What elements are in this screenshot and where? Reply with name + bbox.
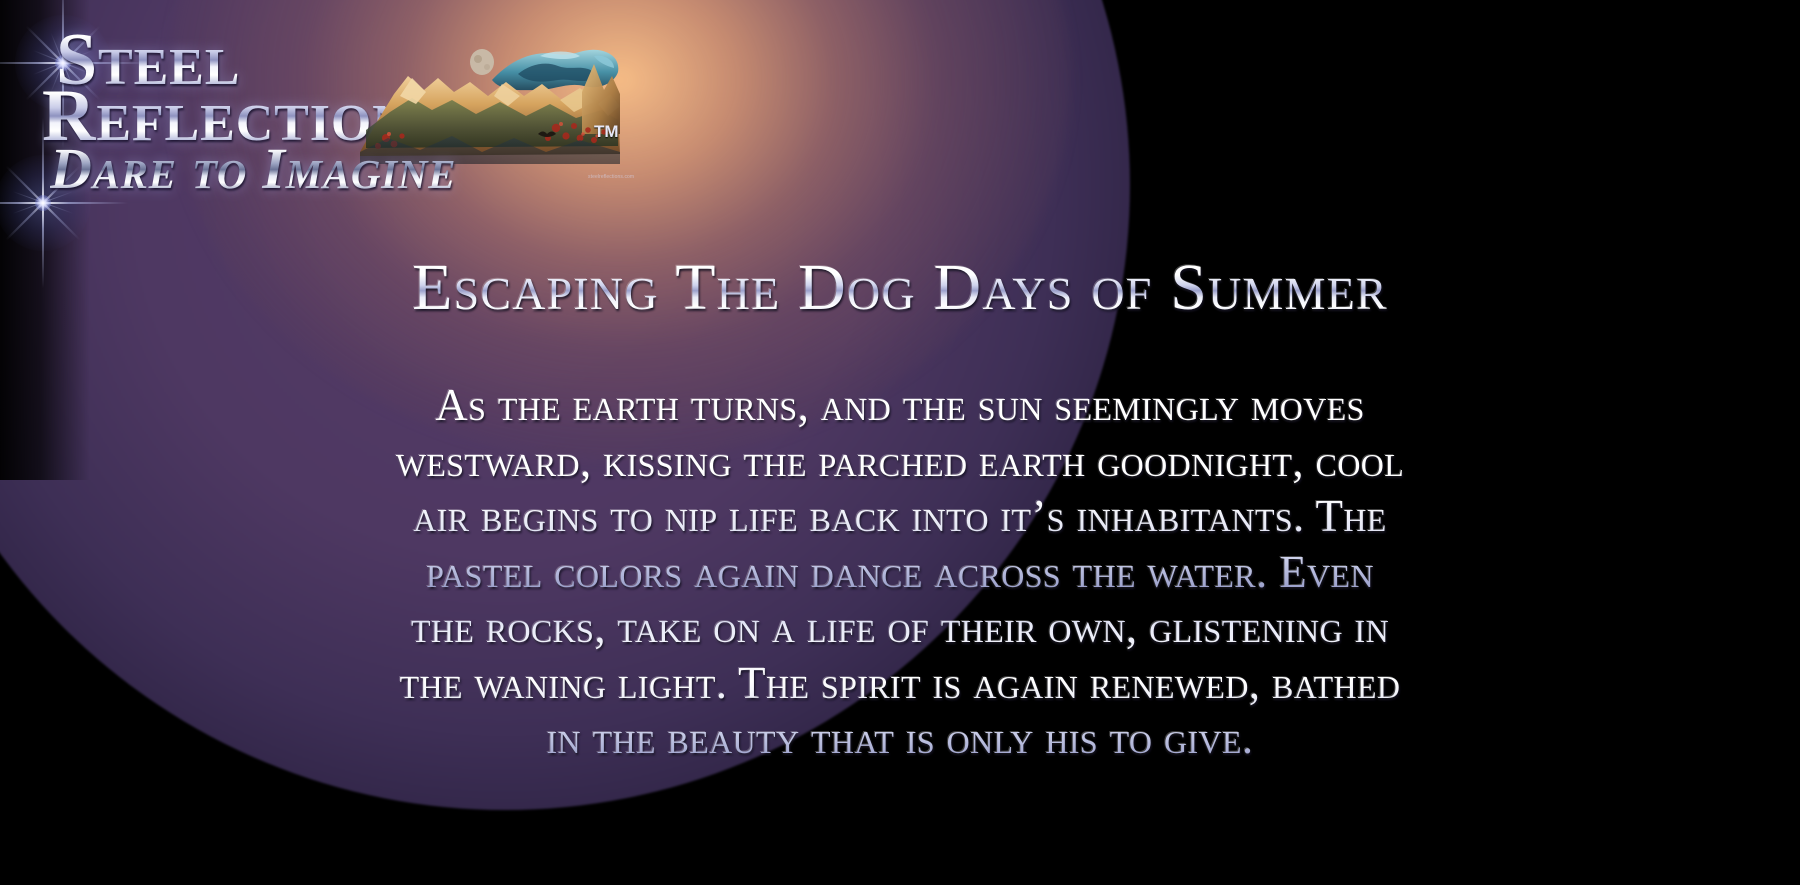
site-logo[interactable]: Steel Reflections: [42, 24, 682, 214]
body-line: the rocks, take on a life of their own, …: [140, 600, 1660, 656]
page-title: Escaping The Dog Days of Summer: [0, 255, 1800, 321]
body-line: westward, kissing the parched earth good…: [140, 434, 1660, 490]
body-paragraph: As the earth turns, and the sun seemingl…: [140, 378, 1660, 767]
body-line: air begins to nip life back into it’s in…: [140, 489, 1660, 545]
trademark-symbol: TM: [594, 122, 619, 142]
body-line: in the beauty that is only his to give.: [140, 711, 1660, 767]
body-line: the waning light. The spirit is again re…: [140, 656, 1660, 712]
logo-tagline: Dare to Imagine: [50, 142, 456, 195]
banner-stage: Steel Reflections: [0, 0, 1800, 885]
logo-microtext: steelreflections.com: [588, 174, 634, 180]
body-line: pastel colors again dance across the wat…: [140, 545, 1660, 601]
body-line: As the earth turns, and the sun seemingl…: [140, 378, 1660, 434]
